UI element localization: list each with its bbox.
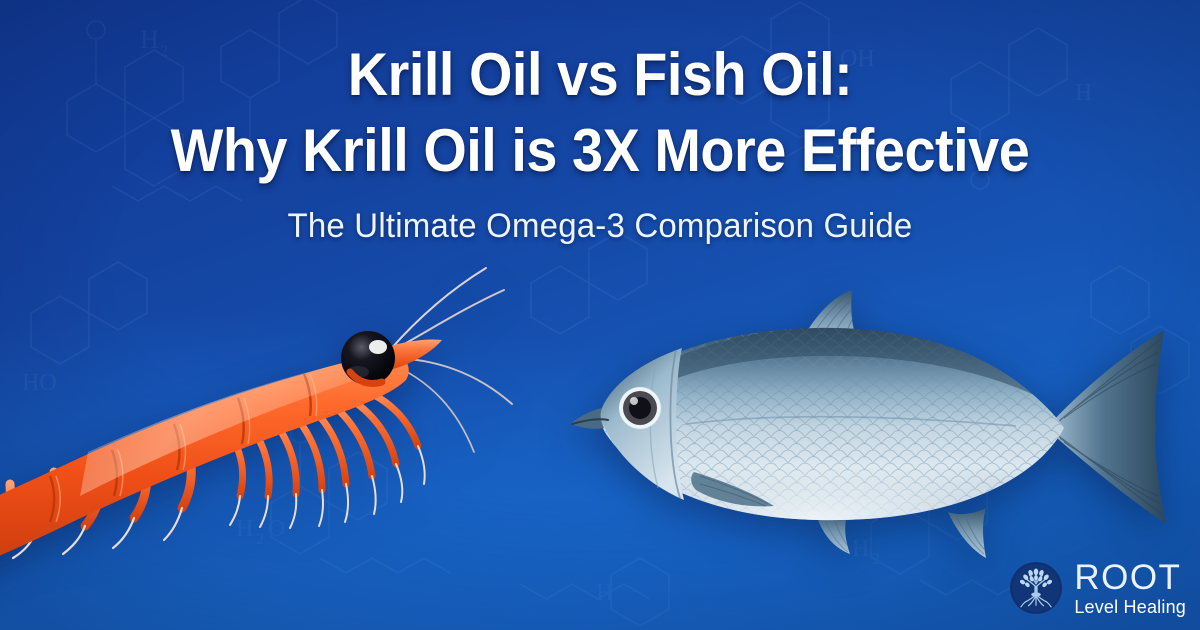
krill-illustration — [0, 246, 518, 576]
subtitle: The Ultimate Omega-3 Comparison Guide — [18, 207, 1182, 246]
title-line-2: Why Krill Oil is 3X More Effective — [42, 120, 1158, 182]
logo-wordmark: ROOT — [1074, 560, 1186, 595]
title-line-1: Krill Oil vs Fish Oil: — [42, 44, 1158, 106]
headline-block: Krill Oil vs Fish Oil: Why Krill Oil is … — [0, 44, 1200, 246]
banner-canvas: H 2 OH H HO — [0, 0, 1200, 630]
svg-text:H: H — [596, 580, 613, 606]
logo-tagline: Level Healing — [1074, 598, 1186, 616]
tree-roots-circle-icon — [1009, 561, 1063, 615]
brand-logo[interactable]: ROOT Level Healing — [1009, 560, 1186, 616]
fish-illustration — [516, 268, 1200, 558]
